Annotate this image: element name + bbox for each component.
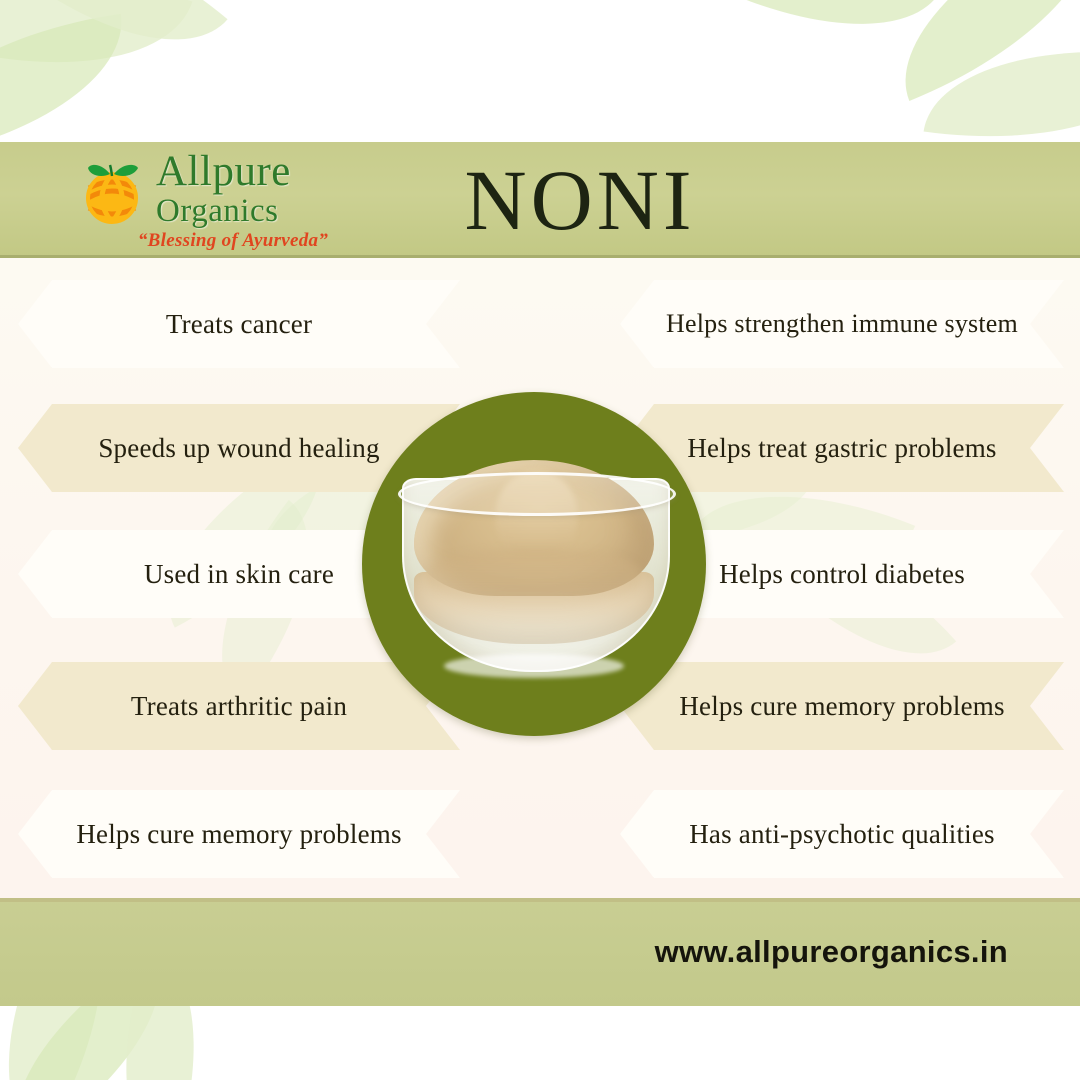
brand-wordmark: Allpure Organics [156, 150, 371, 228]
website-url[interactable]: www.allpureorganics.in [655, 934, 1008, 970]
leaf-shape [0, 14, 137, 161]
noni-benefits-poster: Allpure Organics “Blessing of Ayurveda” … [0, 0, 1080, 1080]
benefit-label: Helps treat gastric problems [620, 433, 1064, 463]
benefit-label: Treats arthritic pain [18, 691, 460, 721]
brand-name-line1: Allpure [156, 150, 371, 193]
benefit-label: Helps strengthen immune system [620, 309, 1064, 338]
benefit-label: Treats cancer [18, 309, 460, 339]
benefit-item-right-4[interactable]: Helps cure memory problems [620, 662, 1064, 750]
brand-tagline: “Blessing of Ayurveda” [98, 230, 368, 252]
leaf-shape [689, 0, 941, 82]
benefit-label: Has anti-psychotic qualities [620, 819, 1064, 849]
brand-logo[interactable]: Allpure Organics “Blessing of Ayurveda” [70, 148, 370, 252]
brand-name-line2: Organics [156, 195, 371, 228]
leaf-shape [0, 0, 192, 116]
benefit-item-right-1[interactable]: Helps strengthen immune system [620, 280, 1064, 368]
noni-powder-bowl-image [392, 454, 676, 674]
page-title: NONI [380, 148, 780, 252]
footer-band: www.allpureorganics.in [0, 898, 1080, 1006]
benefit-label: Helps cure memory problems [18, 819, 460, 849]
benefit-item-right-5[interactable]: Has anti-psychotic qualities [620, 790, 1064, 878]
product-image-circle [362, 392, 706, 736]
leaf-shape [868, 0, 1080, 101]
benefit-item-left-1[interactable]: Treats cancer [18, 280, 460, 368]
benefit-item-right-2[interactable]: Helps treat gastric problems [620, 404, 1064, 492]
benefit-label: Helps cure memory problems [620, 691, 1064, 721]
leaf-shape [2, 0, 227, 96]
bowl-base [444, 654, 624, 678]
orange-fruit-leaf-icon [76, 154, 148, 226]
benefit-item-left-4[interactable]: Treats arthritic pain [18, 662, 460, 750]
benefit-item-left-5[interactable]: Helps cure memory problems [18, 790, 460, 878]
bowl-rim [398, 472, 676, 516]
